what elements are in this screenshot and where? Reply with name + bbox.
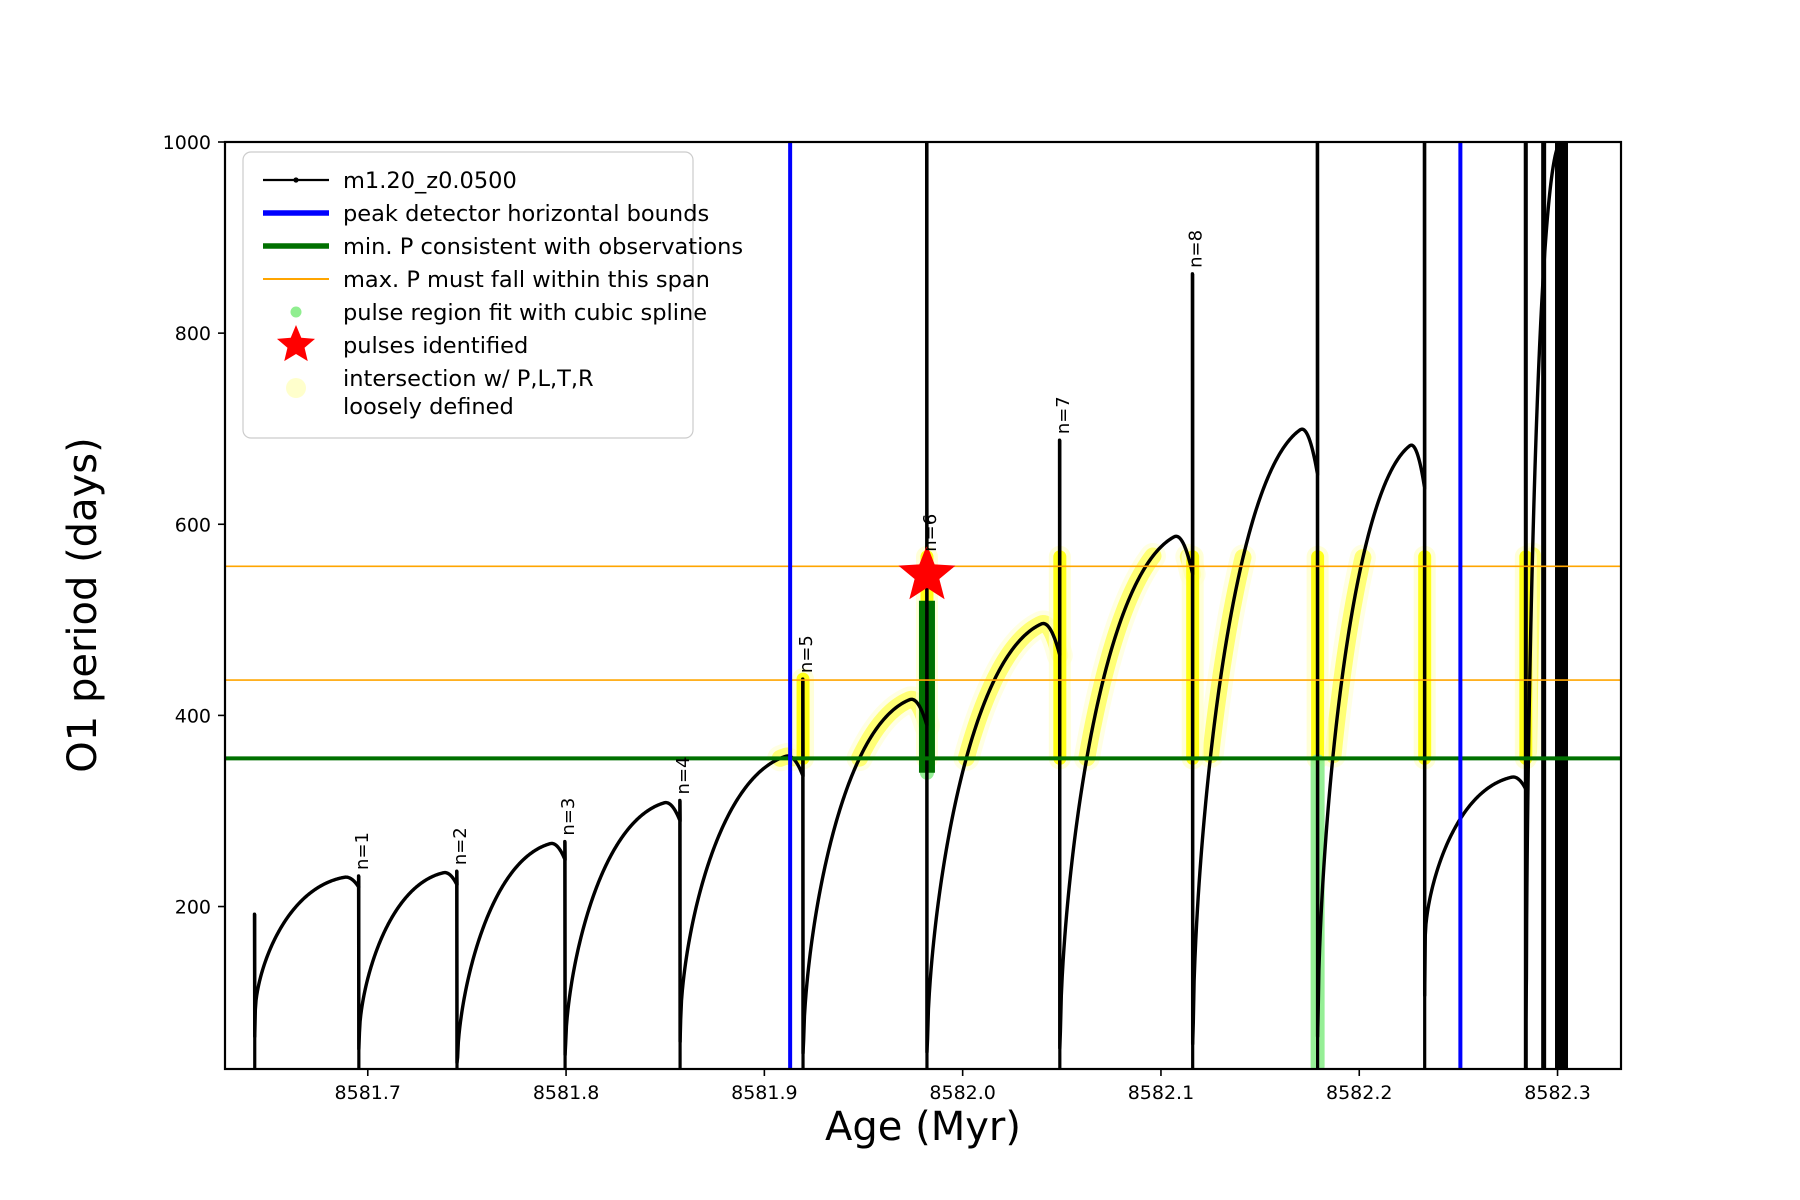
figure-root: 8581.78581.88581.98582.08582.18582.28582… bbox=[0, 0, 1800, 1200]
y-tick-label: 800 bbox=[175, 323, 211, 345]
legend-label: peak detector horizontal bounds bbox=[343, 201, 709, 227]
pulse-index-label: n=8 bbox=[1186, 230, 1207, 268]
plot-svg: 8581.78581.88581.98582.08582.18582.28582… bbox=[0, 0, 1800, 1200]
y-tick-label: 1000 bbox=[163, 132, 211, 154]
legend-label: max. P must fall within this span bbox=[343, 267, 710, 293]
y-tick-label: 400 bbox=[175, 705, 211, 727]
legend-label-line2: loosely defined bbox=[343, 394, 514, 420]
x-tick-label: 8582.0 bbox=[929, 1082, 995, 1104]
legend-label: pulses identified bbox=[343, 333, 528, 359]
pulse-index-label: n=3 bbox=[558, 798, 579, 836]
x-tick-label: 8581.7 bbox=[335, 1082, 401, 1104]
legend-label: min. P consistent with observations bbox=[343, 234, 743, 260]
x-tick-label: 8581.8 bbox=[533, 1082, 599, 1104]
x-tick-label: 8582.3 bbox=[1524, 1082, 1590, 1104]
pulse-index-label: n=2 bbox=[450, 827, 471, 865]
pulse-index-label: n=6 bbox=[920, 514, 941, 552]
x-axis-title: Age (Myr) bbox=[825, 1104, 1021, 1150]
pulse-index-label: n=7 bbox=[1053, 396, 1074, 434]
legend-label: pulse region fit with cubic spline bbox=[343, 300, 707, 326]
pulse-index-label: n=5 bbox=[796, 635, 817, 673]
legend-label: intersection w/ P,L,T,R bbox=[343, 366, 594, 392]
x-tick-label: 8581.9 bbox=[731, 1082, 797, 1104]
x-tick-label: 8582.2 bbox=[1326, 1082, 1392, 1104]
legend-label: m1.20_z0.0500 bbox=[343, 168, 517, 194]
y-tick-label: 600 bbox=[175, 514, 211, 536]
legend-marker-dot bbox=[291, 307, 302, 318]
y-axis-title: O1 period (days) bbox=[60, 437, 106, 772]
x-tick-label: 8582.1 bbox=[1128, 1082, 1194, 1104]
y-tick-label: 200 bbox=[175, 897, 211, 919]
pulse-index-label: n=4 bbox=[673, 757, 694, 795]
legend-marker-dot bbox=[286, 378, 306, 398]
pulse-index-label: n=1 bbox=[352, 832, 373, 870]
legend-marker-dot bbox=[293, 177, 298, 182]
legend: m1.20_z0.0500peak detector horizontal bo… bbox=[243, 152, 743, 438]
